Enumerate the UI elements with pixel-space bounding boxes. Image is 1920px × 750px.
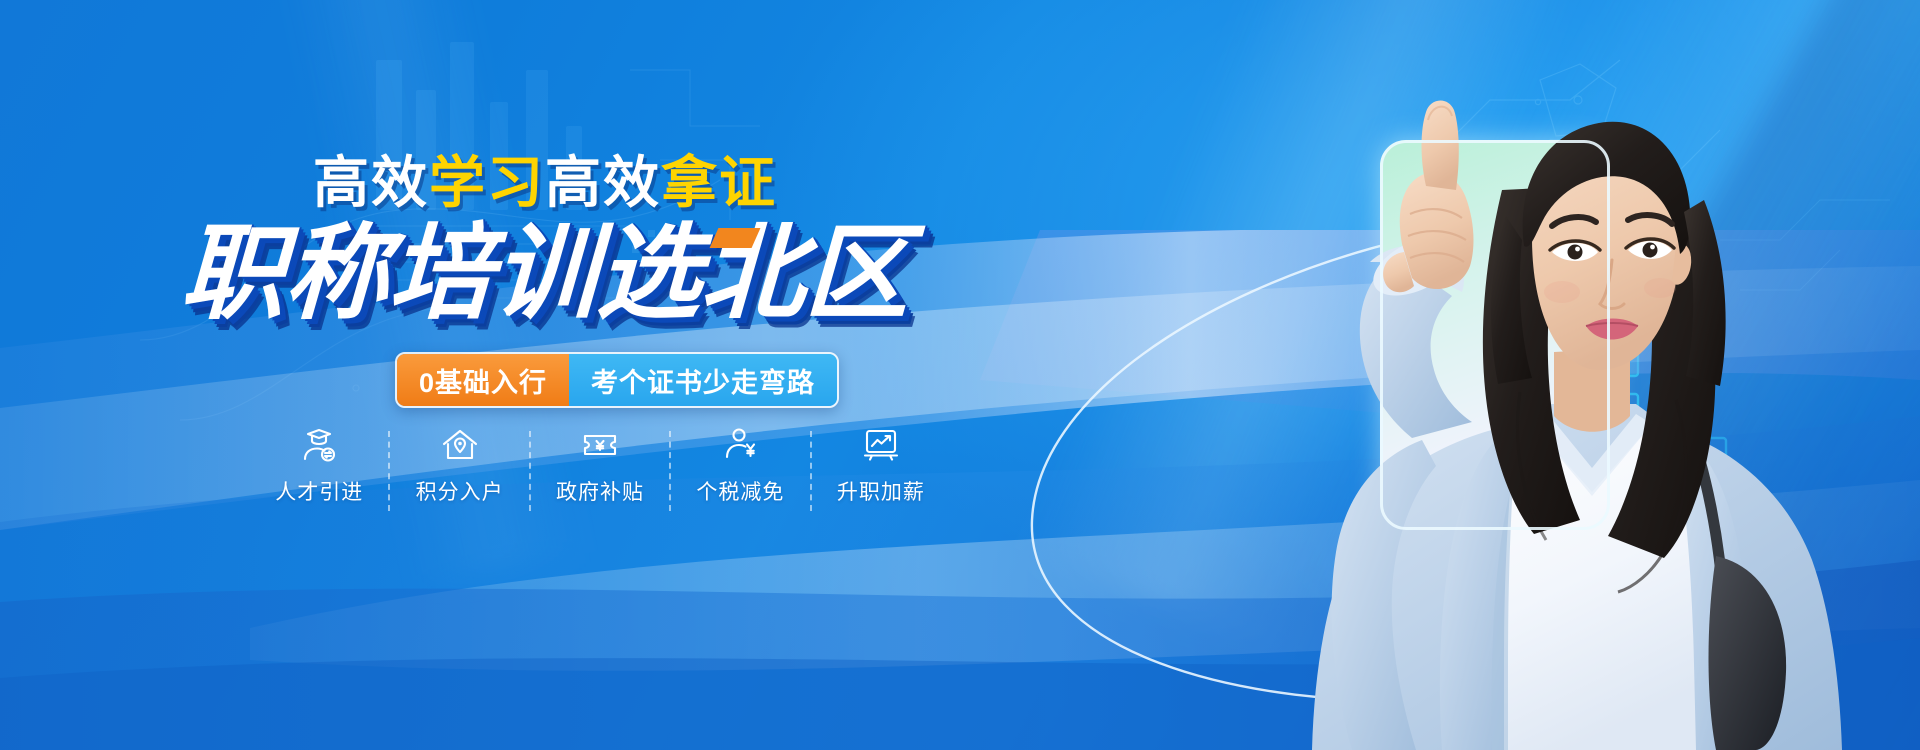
main-headline: 职称培训选北区 <box>0 222 1090 326</box>
light-ray-a <box>1022 0 1637 663</box>
sub-headline-seg-1: 高效 <box>313 151 429 214</box>
feature-item-subsidy[interactable]: 政府补贴 <box>531 425 669 506</box>
light-ray-b <box>1298 0 1920 750</box>
person-yuan-icon <box>720 425 760 465</box>
main-headline-char-1: 职 <box>179 222 287 326</box>
circuit-texture-right <box>1420 40 1920 600</box>
feature-label-household: 积分入户 <box>416 476 504 506</box>
decor-card-back <box>1380 140 1610 530</box>
pill-right-label: 考个证书少走弯路 <box>569 354 837 406</box>
feature-item-talent[interactable]: 人才引进 <box>250 425 388 506</box>
orange-accent-slash-icon <box>710 228 761 248</box>
sub-headline-seg-4: 拿证 <box>661 151 777 214</box>
house-pin-icon <box>440 425 480 465</box>
graduation-person-icon <box>299 425 339 465</box>
square-grid-right <box>1560 300 1860 630</box>
tagline-pill[interactable]: 0基础入行 考个证书少走弯路 <box>395 352 839 408</box>
feature-label-subsidy: 政府补贴 <box>556 476 644 506</box>
decor-card-outline <box>1380 140 1610 530</box>
feature-label-taxcut: 个税减免 <box>696 476 784 506</box>
copy-block: 高效学习高效拿证 职称培训选北区 0基础入行 考个证书少走弯路 <box>0 0 1090 750</box>
light-ray-shadow <box>1490 0 1920 750</box>
square-grid-right-inner <box>1480 430 1630 610</box>
pill-left-label: 0基础入行 <box>397 354 569 406</box>
feature-label-talent: 人才引进 <box>275 476 363 506</box>
main-headline-char-7: 区 <box>803 222 911 326</box>
sub-headline: 高效学习高效拿证 <box>0 155 1090 211</box>
feature-item-taxcut[interactable]: 个税减免 <box>671 425 809 506</box>
main-headline-char-2: 称 <box>283 222 391 326</box>
main-headline-char-5: 选 <box>595 222 703 326</box>
feature-row: 人才引进 积分入户 <box>250 425 950 515</box>
main-headline-char-3: 培 <box>387 222 495 326</box>
swoosh-line <box>980 200 1740 720</box>
promo-banner: 239 <box>0 0 1920 750</box>
ticket-yuan-icon <box>580 425 620 465</box>
feature-item-household[interactable]: 积分入户 <box>390 425 528 506</box>
feature-label-promotion: 升职加薪 <box>837 476 925 506</box>
sub-headline-seg-2: 学习 <box>429 151 545 214</box>
main-headline-char-4: 训 <box>491 222 599 326</box>
feature-item-promotion[interactable]: 升职加薪 <box>812 425 950 506</box>
person-photo-figure <box>1080 0 1920 750</box>
figure-stage <box>1080 0 1920 750</box>
chart-board-icon <box>861 425 901 465</box>
sub-headline-seg-3: 高效 <box>545 151 661 214</box>
